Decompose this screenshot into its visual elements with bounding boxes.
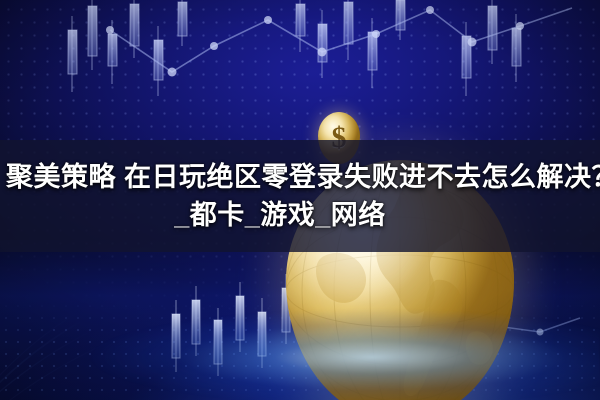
vignette-overlay	[0, 0, 600, 400]
banner-image: $ 聚美策略 在日玩绝区零登录失败进不去怎么解决？ _都卡_游戏_网络	[0, 0, 600, 400]
